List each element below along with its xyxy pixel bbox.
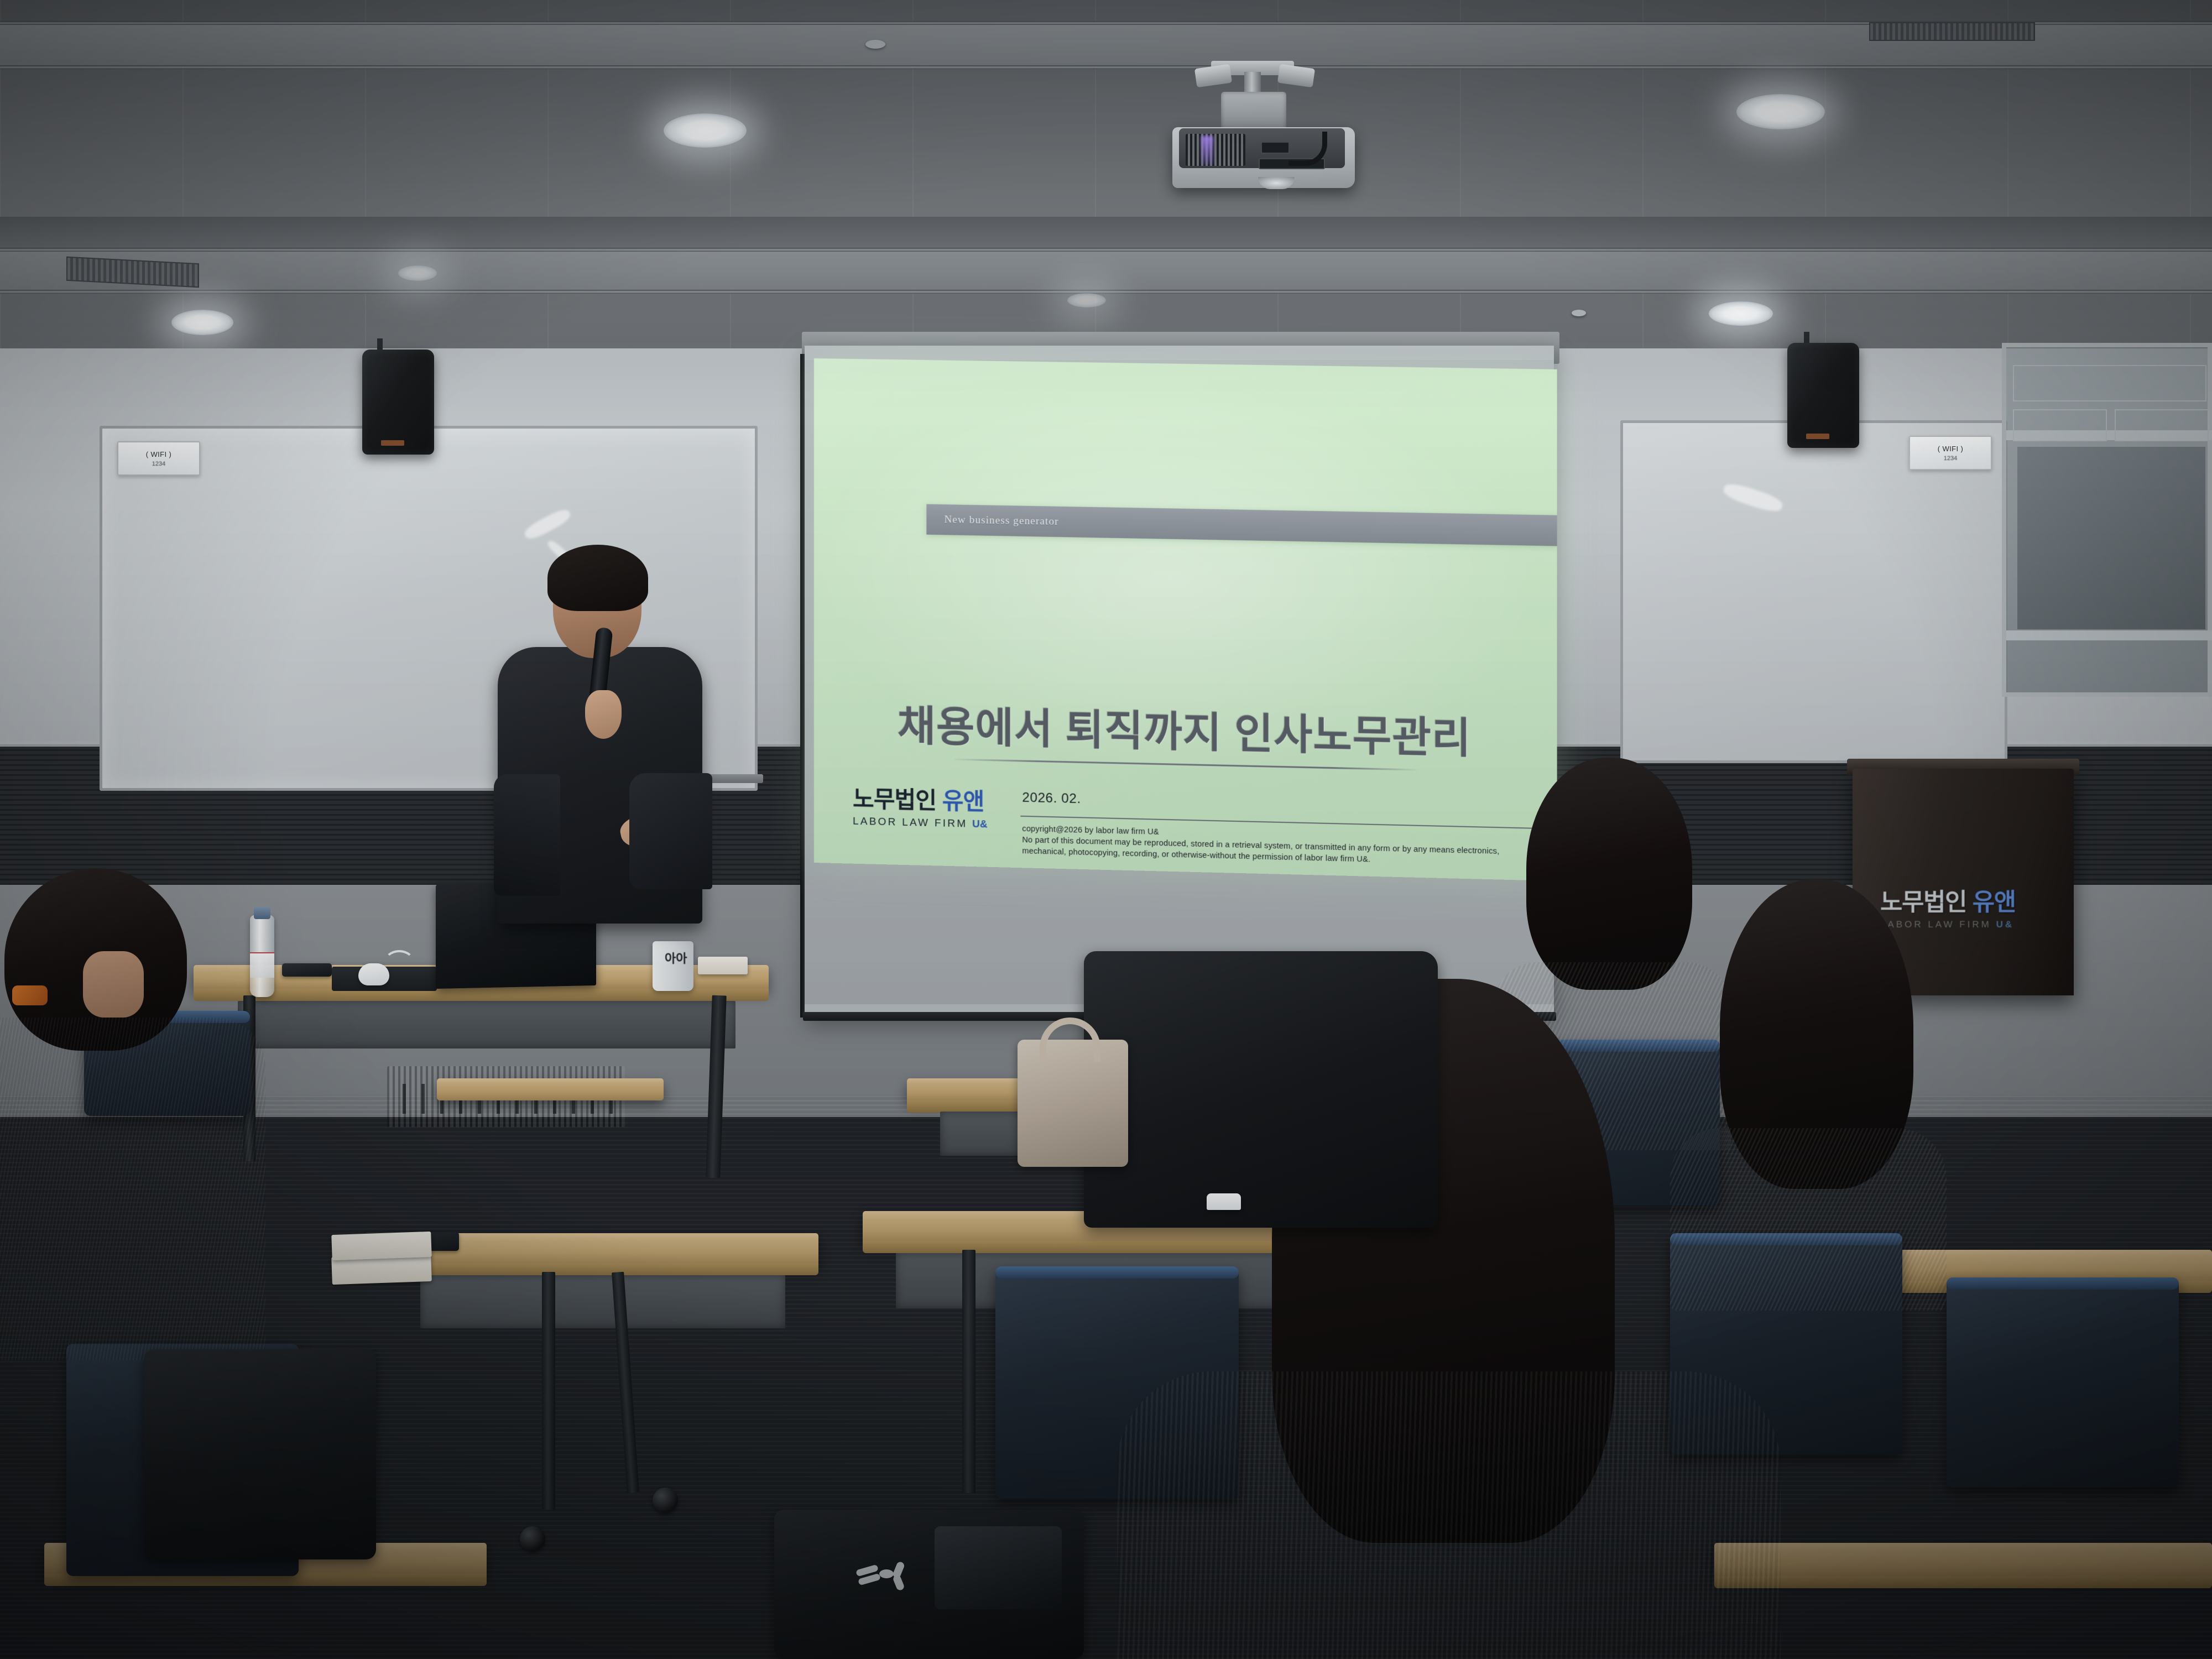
presenter-hand-mic	[585, 690, 622, 739]
backpack-left	[144, 1349, 376, 1559]
ceiling-air-vent	[1869, 22, 2035, 41]
wifi-sign-line1: ( WIFI )	[1938, 445, 1964, 453]
ceiling-band-lower	[0, 217, 2212, 249]
desk-caster	[653, 1488, 678, 1513]
upper-shelf	[2013, 409, 2107, 441]
smoke-detector	[865, 40, 885, 49]
ceiling-seam	[0, 65, 2212, 69]
podium-logo-korean: 노무법인 유앤	[1880, 890, 2063, 915]
open-notebook	[331, 1232, 431, 1260]
desk-edge	[1714, 1576, 2212, 1588]
wifi-info-sign-right: ( WIFI ) 1234	[1909, 436, 1992, 470]
desk-leg	[962, 1250, 975, 1493]
slide-logo-korean-black: 노무법인	[853, 786, 936, 814]
chair-backrest-rim	[1947, 1277, 2179, 1290]
podium-logo-english-mark: U&	[1996, 919, 2015, 930]
desk-caster	[520, 1526, 545, 1552]
water-bottle-cap	[254, 907, 270, 919]
podium-logo-english: LABOR LAW FIRM	[1880, 919, 1991, 930]
upper-shelf	[2115, 409, 2209, 441]
presenter-desk-modesty-panel	[238, 1001, 735, 1048]
projector-mount-yoke	[1221, 92, 1286, 133]
slide-header-label: New business generator	[945, 514, 1059, 528]
slide-logo-english: LABOR LAW FIRM	[853, 816, 967, 830]
projector-lamp-glow	[1201, 136, 1213, 165]
slide-title: 채용에서 퇴직까지 인사노무관리	[814, 690, 1557, 767]
desk-edge	[382, 1263, 818, 1275]
audience-face	[83, 951, 144, 1018]
slide-logo: 노무법인 유앤 LABOR LAW FIRM U&	[853, 787, 1014, 832]
ceiling-seam	[0, 290, 2212, 294]
chair	[1947, 1277, 2179, 1488]
presenter-arm-right	[629, 773, 712, 889]
presentation-slide: New business generator 채용에서 퇴직까지 인사노무관리 …	[814, 358, 1557, 881]
projector-port	[1261, 142, 1290, 154]
ceiling-downlight	[171, 310, 233, 335]
podium-logo-korean-blue: 유앤	[1973, 889, 2016, 916]
wall-speaker-right	[1787, 343, 1859, 448]
presenter-arm-left	[494, 774, 560, 896]
takeaway-coffee-cup	[1207, 1193, 1241, 1210]
paper-stack	[698, 957, 748, 974]
mug-label: 아아	[665, 953, 687, 965]
wifi-info-sign-left: ( WIFI ) 1234	[117, 441, 200, 476]
ceiling-downlight	[398, 265, 437, 281]
ceiling-seam	[0, 248, 2212, 252]
audience-torso-knit	[1117, 1371, 1781, 1659]
desk-leg	[542, 1272, 555, 1510]
podium-logo: 노무법인 유앤 LABOR LAW FIRM U&	[1880, 890, 2063, 930]
smoke-detector	[1572, 310, 1586, 316]
orange-strap	[12, 985, 48, 1005]
desk-modesty-panel	[420, 1275, 785, 1328]
slide-copyright-block: copyright@2026 by labor law firm U& No p…	[1022, 823, 1557, 870]
desk	[437, 1078, 664, 1100]
seminar-room-scene: ( WIFI ) 1234 ( WIFI ) 1234 New business…	[0, 0, 2212, 1659]
camera-body	[935, 1526, 1062, 1609]
glass-pane	[2017, 447, 2205, 629]
wifi-sign-line1: ( WIFI )	[146, 450, 172, 458]
upper-shelf	[2013, 365, 2206, 401]
podium-logo-korean-black: 노무법인	[1880, 889, 1966, 916]
coat-draped-on-chair	[1084, 951, 1438, 1228]
ceiling-downlight	[664, 113, 747, 148]
ceiling-downlight	[1067, 293, 1106, 307]
mobile-phone	[282, 963, 332, 977]
audience-hair	[1526, 758, 1692, 990]
wifi-sign-line2: 1234	[152, 461, 165, 467]
mouse-cable	[384, 950, 415, 975]
slide-logo-korean: 노무법인 유앤	[853, 787, 1014, 815]
slide-logo-english-mark: U&	[972, 818, 988, 831]
slide-date: 2026. 02.	[1022, 790, 1081, 807]
white-mug: 아아	[653, 941, 693, 991]
presenter-hair	[547, 545, 648, 611]
ceiling-downlight	[1736, 94, 1825, 129]
chair-backrest-rim	[995, 1266, 1239, 1279]
ceiling-downlight	[1709, 301, 1773, 326]
whiteboard-smudge	[522, 506, 573, 542]
audience-torso-grey	[1670, 1128, 1947, 1311]
whiteboard-smudge	[1721, 481, 1785, 515]
audience-torso-denim-jacket	[0, 1018, 265, 1360]
water-bottle-label	[250, 952, 274, 978]
projector-vent-grille	[1186, 134, 1245, 166]
slide-logo-english-row: LABOR LAW FIRM U&	[853, 816, 1014, 832]
slide-logo-korean-blue: 유앤	[942, 787, 984, 815]
bag-logo	[856, 1555, 909, 1589]
whiteboard-right	[1620, 420, 2007, 763]
wall-speaker-left	[362, 349, 434, 455]
desk-bottom-right	[1714, 1543, 2212, 1578]
podium-logo-english-row: LABOR LAW FIRM U&	[1880, 919, 2063, 930]
slide-header-bar: New business generator	[926, 504, 1557, 546]
wifi-sign-line2: 1234	[1944, 455, 1957, 462]
ceiling-band-lowest	[0, 252, 2212, 290]
glass-mullion-horizontal	[2006, 630, 2212, 640]
